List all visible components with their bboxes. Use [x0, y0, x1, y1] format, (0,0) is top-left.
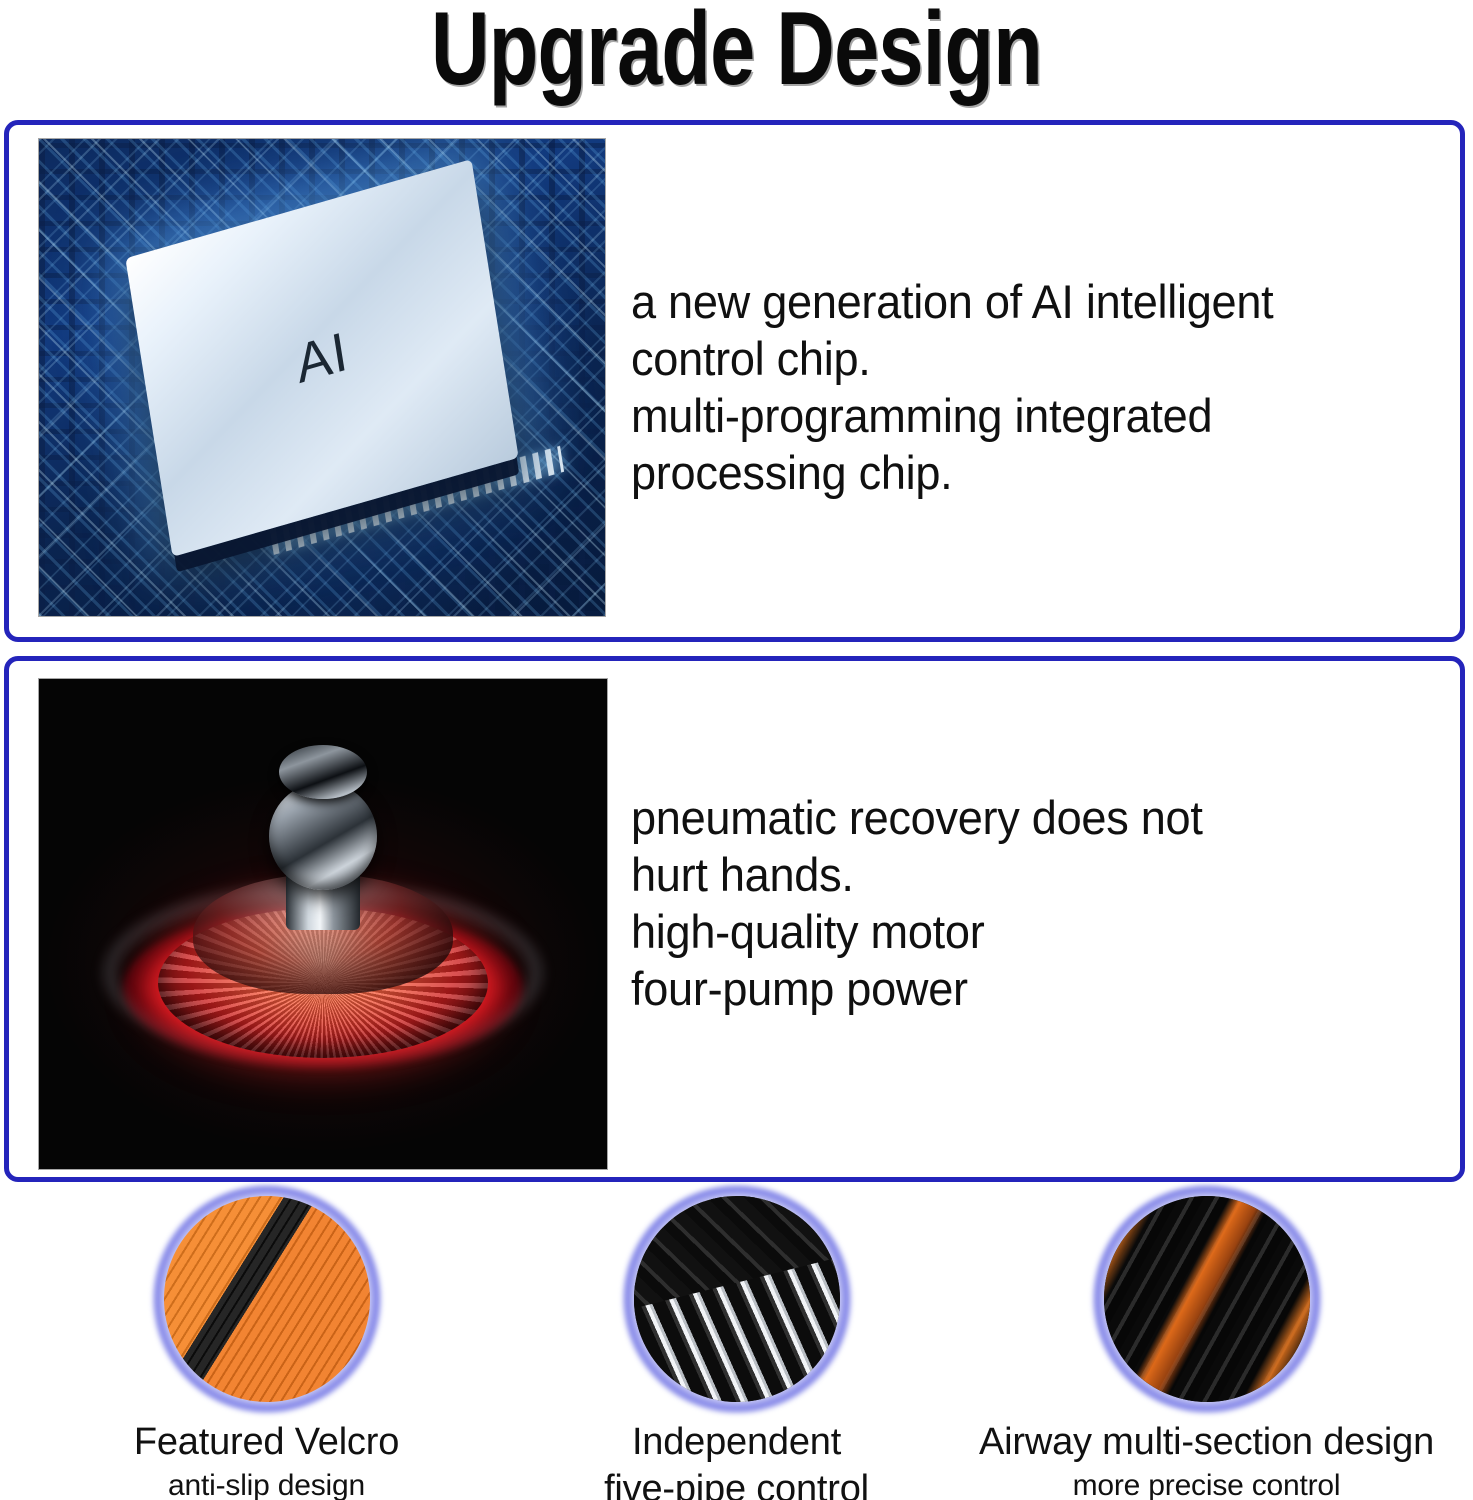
feature-highlights-row: Featured Velcro anti-slip design Indepen…: [0, 1196, 1473, 1496]
feature-title: Featured Velcro: [134, 1420, 399, 1465]
infographic-page: Upgrade Design AI a new generation of AI…: [0, 0, 1473, 1500]
velcro-artwork: [164, 1196, 370, 1402]
description-line: hurt hands.: [631, 846, 1203, 903]
velcro-strap-thumbnail: [164, 1196, 370, 1402]
page-title: Upgrade Design: [162, 0, 1311, 104]
feature-panel-ai-chip: AI a new generation of AI intelligent co…: [4, 120, 1465, 642]
feature-panel-pneumatic-motor: pneumatic recovery does not hurt hands. …: [4, 656, 1465, 1182]
description-line: high-quality motor: [631, 903, 1203, 960]
airway-sections-thumbnail: [1104, 1196, 1310, 1402]
feature-title: Airway multi-section design: [979, 1420, 1434, 1465]
motor-top-cap: [279, 745, 367, 799]
feature-item-five-pipe: Independent five-pipe control: [502, 1196, 972, 1500]
chip-label: AI: [292, 320, 353, 396]
pipes-artwork: [634, 1196, 840, 1402]
ai-control-chip-photo: AI: [39, 139, 605, 616]
description-line: a new generation of AI intelligent: [631, 273, 1273, 330]
feature-item-airway: Airway multi-section design more precise…: [972, 1196, 1442, 1500]
ai-chip-description: a new generation of AI intelligent contr…: [631, 273, 1273, 501]
description-line: pneumatic recovery does not: [631, 789, 1203, 846]
feature-subtitle: five-pipe control: [604, 1467, 869, 1500]
five-pipe-tubes-thumbnail: [634, 1196, 840, 1402]
motor-description: pneumatic recovery does not hurt hands. …: [631, 789, 1203, 1017]
description-line: control chip.: [631, 330, 1273, 387]
feature-subtitle: more precise control: [1073, 1467, 1341, 1500]
airway-artwork: [1104, 1196, 1310, 1402]
feature-title: Independent: [632, 1420, 841, 1465]
description-line: multi-programming integrated: [631, 387, 1273, 444]
feature-subtitle: anti-slip design: [168, 1467, 365, 1500]
feature-item-velcro: Featured Velcro anti-slip design: [32, 1196, 502, 1500]
pneumatic-motor-photo: [39, 679, 607, 1169]
description-line: four-pump power: [631, 960, 1203, 1017]
description-line: processing chip.: [631, 444, 1273, 501]
